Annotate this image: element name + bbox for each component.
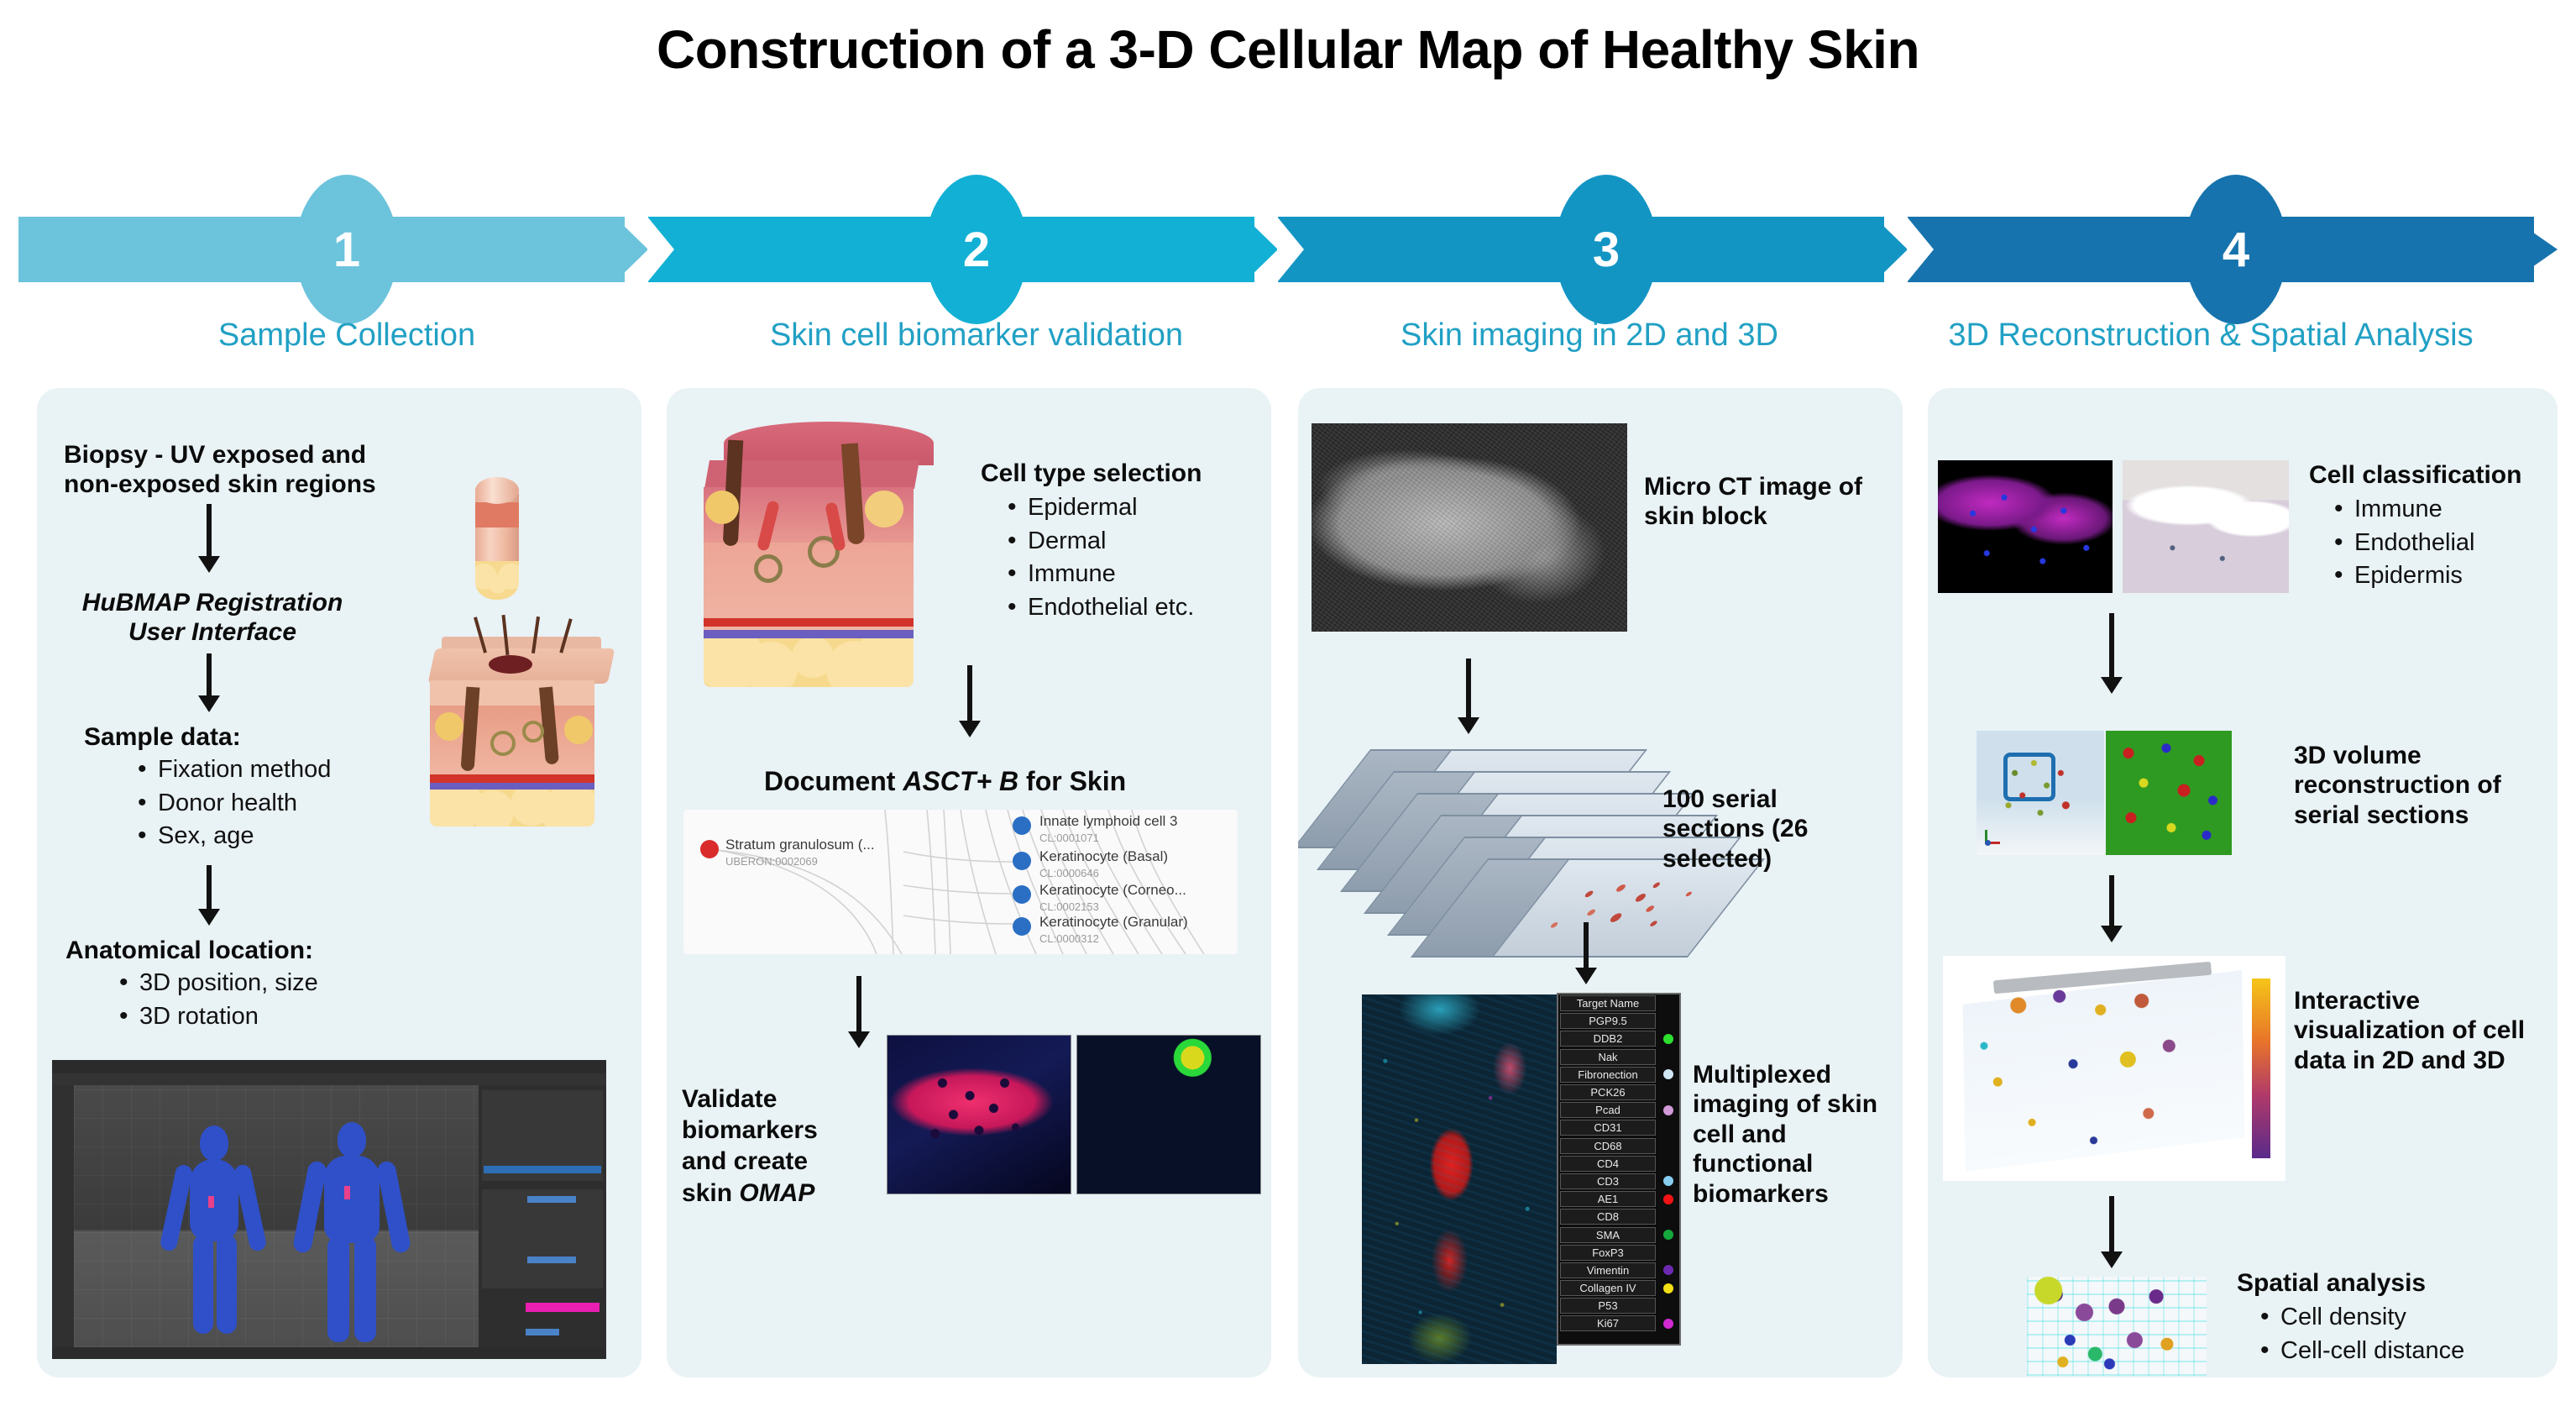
- legend-row[interactable]: SMA: [1558, 1225, 1679, 1243]
- blender-slider-basecolor[interactable]: [527, 1196, 576, 1203]
- legend-target-name: CD8: [1560, 1209, 1656, 1225]
- list-item: Cell density: [2252, 1302, 2464, 1334]
- legend-target-name: AE1: [1560, 1191, 1656, 1207]
- panel3-arrow-1: [1458, 659, 1479, 734]
- legend-color-dot: [1663, 1069, 1673, 1079]
- list-item: Dermal: [999, 526, 1194, 558]
- step-number-3: 3: [1593, 222, 1620, 278]
- legend-color-dot: [1663, 1319, 1673, 1329]
- legend-target-name: Collagen IV: [1560, 1280, 1656, 1296]
- asctb-node-cell-0-label: Innate lymphoid cell 3: [1039, 813, 1177, 830]
- asctb-node-cell-1[interactable]: [1013, 852, 1031, 870]
- legend-header-row: Target Name: [1558, 994, 1679, 1012]
- legend-color-cell: [1657, 1230, 1679, 1240]
- step-arrow-1-tip: [615, 217, 648, 282]
- page-title: Construction of a 3-D Cellular Map of He…: [0, 18, 2576, 81]
- asctb-node-cell-3-id: CL:0000312: [1039, 932, 1099, 945]
- axes-gizmo: [1985, 828, 2012, 847]
- legend-row[interactable]: Collagen IV: [1558, 1279, 1679, 1297]
- panel-biomarker-validation: Cell type selection Epidermal Dermal Imm…: [667, 388, 1271, 1377]
- step-arrow-4-tip: [2511, 217, 2558, 282]
- panel4-arrow-3: [2101, 1196, 2123, 1268]
- legend-target-name: DDB2: [1560, 1031, 1656, 1047]
- list-item: Donor health: [129, 788, 331, 820]
- if-image-keratinocytes[interactable]: [887, 1035, 1071, 1194]
- legend-row[interactable]: PGP9.5: [1558, 1012, 1679, 1030]
- asctb-graph-screenshot[interactable]: Stratum granulosum (... UBERON:0002069 I…: [683, 810, 1238, 954]
- arrow-shaft: [856, 976, 861, 1033]
- legend-target-name: CD68: [1560, 1138, 1656, 1154]
- legend-target-name: PCK26: [1560, 1084, 1656, 1100]
- step-circle-3[interactable]: 3: [1555, 175, 1657, 324]
- legend-color-dot: [1663, 1194, 1673, 1204]
- volume-reconstruction-zoom[interactable]: [2106, 731, 2232, 855]
- biopsy-core-illustration: [475, 477, 519, 600]
- legend-target-name: CD4: [1560, 1156, 1656, 1172]
- asctb-node-cell-3[interactable]: [1013, 917, 1031, 936]
- legend-color-cell: [1657, 1265, 1679, 1275]
- skin-artery-line: [430, 774, 594, 783]
- asctb-node-cell-2[interactable]: [1013, 885, 1031, 904]
- body-model-male: [338, 1122, 366, 1157]
- legend-row[interactable]: PCK26: [1558, 1084, 1679, 1101]
- body-model-male-leg-r: [354, 1236, 376, 1342]
- asctb-node-cell-3-label: Keratinocyte (Granular): [1039, 914, 1188, 931]
- arrow-head: [848, 1031, 870, 1048]
- legend-row[interactable]: Nak: [1558, 1048, 1679, 1066]
- arrow-head: [198, 695, 220, 712]
- panel1-arrow-3: [198, 865, 220, 926]
- legend-target-name: P53: [1560, 1298, 1656, 1314]
- panel3-arrow-2: [1575, 922, 1597, 984]
- if-image-glands[interactable]: [1076, 1035, 1261, 1194]
- arrow-head: [1575, 968, 1597, 984]
- biomarker-legend-table[interactable]: Target Name PGP9.5DDB2NakFibronectionPCK…: [1557, 993, 1681, 1346]
- roi-selection-box[interactable]: [2003, 753, 2055, 801]
- legend-rows-container: PGP9.5DDB2NakFibronectionPCK26PcadCD31CD…: [1558, 1012, 1679, 1332]
- legend-color-cell: [1657, 1283, 1679, 1293]
- skin-hypodermis-fat: [430, 790, 594, 826]
- legend-row[interactable]: CD3: [1558, 1173, 1679, 1190]
- legend-color-cell: [1657, 1194, 1679, 1204]
- legend-color-cell: [1657, 1105, 1679, 1115]
- body-model-female-arm-l: [159, 1163, 193, 1252]
- legend-target-name: Vimentin: [1560, 1262, 1656, 1278]
- list-item: Epidermal: [999, 492, 1194, 524]
- step-number-2: 2: [963, 222, 990, 278]
- legend-row[interactable]: AE1: [1558, 1190, 1679, 1208]
- legend-target-name: FoxP3: [1560, 1245, 1656, 1261]
- blender-slider-alpha[interactable]: [527, 1257, 576, 1263]
- step-circle-2[interactable]: 2: [925, 175, 1028, 324]
- asctb-node-cell-2-label: Keratinocyte (Corneo...: [1039, 882, 1186, 899]
- legend-target-name: SMA: [1560, 1227, 1656, 1243]
- asctb-node-cell-1-label: Keratinocyte (Basal): [1039, 848, 1168, 865]
- step-number-1: 1: [333, 222, 360, 278]
- validate-line-4-pre: skin: [682, 1179, 739, 1207]
- list-item: Endothelial etc.: [999, 592, 1194, 624]
- multiplexed-if-image[interactable]: [1362, 994, 1557, 1364]
- blender-viewport[interactable]: [74, 1085, 479, 1347]
- legend-row[interactable]: CD31: [1558, 1119, 1679, 1136]
- panel2-celltype-heading: Cell type selection: [981, 459, 1202, 488]
- skin-surface-bumpy: [724, 422, 934, 465]
- legend-target-name: Fibronection: [1560, 1067, 1656, 1083]
- legend-target-name: Ki67: [1560, 1315, 1656, 1331]
- serial-sections-stack: [1298, 749, 1721, 917]
- panel3-microct-label: Micro CT image of skin block: [1644, 472, 1871, 532]
- validate-line-1: Validate: [682, 1085, 777, 1113]
- biopsy-core-fat: [475, 561, 519, 600]
- legend-color-dot: [1663, 1283, 1673, 1293]
- he-stain-image[interactable]: [2123, 460, 2289, 593]
- legend-row[interactable]: FoxP3: [1558, 1244, 1679, 1262]
- legend-color-cell: [1657, 1034, 1679, 1044]
- legend-row[interactable]: Fibronection: [1558, 1066, 1679, 1084]
- body-model-female: [200, 1126, 228, 1161]
- asctb-node-anatomical-label: Stratum granulosum (...: [725, 837, 875, 853]
- panel1-anatomical-heading: Anatomical location:: [65, 936, 313, 965]
- blender-viewport-color-swatch[interactable]: [526, 1303, 599, 1312]
- panel1-arrow-2: [198, 653, 220, 712]
- panel4-classification-list: Immune Endothelial Epidermis: [2326, 492, 2475, 592]
- arrow-head: [959, 721, 981, 737]
- panel4-arrow-1: [2101, 613, 2123, 694]
- skin-vein-2: [704, 630, 914, 638]
- step-number-4: 4: [2223, 222, 2249, 278]
- panel1-heading: Biopsy - UV exposed and non-exposed skin…: [64, 440, 425, 500]
- microct-image[interactable]: [1312, 423, 1627, 632]
- arrow-shaft: [2109, 875, 2114, 927]
- sebaceous-gland-left: [435, 712, 463, 741]
- blender-tool-bar: [52, 1073, 606, 1085]
- arrow-head: [1458, 717, 1479, 734]
- arrow-shaft: [207, 865, 212, 910]
- body-model-female-torso: [190, 1159, 238, 1241]
- viewer-colorbar: [2252, 979, 2270, 1158]
- panel2-validate-label: Validate biomarkers and create skin OMAP: [682, 1084, 858, 1209]
- blender-menu-bar: [52, 1060, 606, 1073]
- biopsy-core-top: [475, 477, 519, 504]
- asctb-node-anatomical[interactable]: [700, 840, 719, 858]
- volume-reconstruction-overview[interactable]: [1977, 731, 2104, 855]
- panel2-arrow-1: [959, 665, 981, 737]
- legend-row[interactable]: CD8: [1558, 1208, 1679, 1225]
- list-item: Cell-cell distance: [2252, 1335, 2464, 1367]
- step-circle-4[interactable]: 4: [2185, 175, 2287, 324]
- blender-tool-palette: [52, 1085, 74, 1347]
- interactive-3d-viewer[interactable]: [1943, 956, 2285, 1181]
- asctb-node-anatomical-id: UBERON:0002069: [725, 855, 818, 868]
- legend-color-dot: [1663, 1176, 1673, 1186]
- body-model-male-arm-l: [292, 1160, 328, 1254]
- arrow-shaft: [1466, 659, 1471, 719]
- arrow-head: [198, 909, 220, 926]
- body-model-female-leg-r: [217, 1235, 237, 1334]
- body-model-male-leg-l: [327, 1236, 349, 1342]
- list-item: Immune: [999, 559, 1194, 590]
- document-label-pre: Document: [764, 766, 903, 796]
- skin-artery-2: [704, 618, 914, 627]
- legend-row[interactable]: P53: [1558, 1297, 1679, 1314]
- step-arrow-3-tip: [1874, 217, 1908, 282]
- legend-target-name: Nak: [1560, 1049, 1656, 1065]
- asctb-node-cell-1-id: CL:0000646: [1039, 867, 1099, 879]
- panel1-anatomical-list: 3D position, size 3D rotation: [111, 966, 318, 1032]
- list-item: Fixation method: [129, 754, 331, 786]
- if-image-epidermis[interactable]: [1938, 460, 2113, 593]
- list-item: Sex, age: [129, 821, 331, 853]
- legend-color-cell: [1657, 1319, 1679, 1329]
- sebaceous-gland-2a: [705, 491, 739, 524]
- validate-line-2: biomarkers: [682, 1116, 818, 1144]
- panel4-spatial-heading: Spatial analysis: [2237, 1268, 2426, 1298]
- legend-target-name: CD31: [1560, 1120, 1656, 1136]
- biopsy-hole: [489, 655, 532, 674]
- legend-target-name: CD3: [1560, 1173, 1656, 1189]
- blender-properties-panel[interactable]: [479, 1085, 606, 1347]
- panel3-multiplexed-label: Multiplexed imaging of skin cell and fun…: [1693, 1060, 1882, 1209]
- biopsy-core-epidermis: [475, 502, 519, 527]
- step-label-2: Skin cell biomarker validation: [741, 317, 1212, 354]
- asctb-node-cell-0[interactable]: [1013, 816, 1031, 835]
- panel-3d-reconstruction: Cell classification Immune Endothelial E…: [1928, 388, 2558, 1377]
- blender-status-bar: [52, 1347, 606, 1359]
- panel3-serial-sections-label: 100 serial sections (26 selected): [1662, 784, 1872, 874]
- document-label-asctb: ASCT+ B: [903, 766, 1018, 796]
- panel2-document-label: Document ASCT+ B for Skin: [764, 766, 1126, 798]
- panel4-spatial-list: Cell density Cell-cell distance: [2252, 1300, 2464, 1367]
- legend-color-dot: [1663, 1230, 1673, 1240]
- step-label-3: Skin imaging in 2D and 3D: [1396, 317, 1783, 354]
- legend-color-cell: [1657, 1176, 1679, 1186]
- sweat-gland-2: [522, 721, 544, 742]
- body-model-female-leg-l: [193, 1235, 213, 1334]
- validate-line-4-omap: OMAP: [739, 1179, 814, 1207]
- blender-outliner-selected-row: [484, 1166, 601, 1173]
- arrow-head: [2101, 926, 2123, 942]
- blender-material-properties: [482, 1189, 603, 1288]
- legend-color-dot: [1663, 1034, 1673, 1044]
- legend-target-name: Pcad: [1560, 1102, 1656, 1118]
- legend-row[interactable]: Pcad: [1558, 1101, 1679, 1119]
- list-item: Endothelial: [2326, 527, 2475, 559]
- sebaceous-gland-right: [564, 716, 593, 744]
- document-label-post: for Skin: [1018, 766, 1126, 796]
- arrow-head: [2101, 677, 2123, 694]
- legend-header-cell: Target Name: [1560, 995, 1656, 1011]
- arrow-shaft: [1584, 922, 1589, 969]
- body-model-male-arm-r: [376, 1160, 412, 1254]
- legend-row[interactable]: DDB2: [1558, 1030, 1679, 1047]
- legend-row[interactable]: Ki67: [1558, 1314, 1679, 1332]
- panel4-classification-heading: Cell classification: [2309, 460, 2521, 490]
- legend-color-cell: [1657, 1069, 1679, 1079]
- panel1-sample-data-heading: Sample data:: [84, 722, 241, 752]
- skin-block-illustration-2: [689, 410, 966, 695]
- spatial-analysis-image[interactable]: [2027, 1277, 2207, 1376]
- step-arrow-2-tip: [1244, 217, 1278, 282]
- skin-block-illustration: [416, 615, 626, 833]
- arrow-shaft: [2109, 1196, 2114, 1253]
- arrow-shaft: [207, 653, 212, 697]
- validate-line-3: and create: [682, 1147, 808, 1175]
- panel1-sample-data-list: Fixation method Donor health Sex, age: [129, 753, 331, 853]
- arrow-shaft: [2109, 613, 2114, 679]
- arrow-head: [198, 556, 220, 573]
- panel-sample-collection: Biopsy - UV exposed and non-exposed skin…: [37, 388, 641, 1377]
- body-model-male-torso: [324, 1156, 380, 1243]
- sweat-gland-2a: [754, 554, 783, 583]
- tissue-block-marker-2: [344, 1186, 350, 1199]
- blender-slider-roughness[interactable]: [526, 1329, 559, 1335]
- arrow-shaft: [207, 504, 212, 558]
- list-item: 3D position, size: [111, 968, 318, 1000]
- arrow-shaft: [967, 665, 972, 722]
- sebaceous-gland-2b: [865, 491, 903, 527]
- step-label-4: 3D Reconstruction & Spatial Analysis: [1917, 317, 2505, 354]
- list-item: Epidermis: [2326, 560, 2475, 592]
- blender-registration-screenshot[interactable]: [52, 1060, 606, 1359]
- legend-target-name: PGP9.5: [1560, 1013, 1656, 1029]
- panel2-celltype-list: Epidermal Dermal Immune Endothelial etc.: [999, 491, 1194, 624]
- step-circle-1[interactable]: 1: [296, 175, 398, 324]
- legend-color-dot: [1663, 1105, 1673, 1115]
- arrow-head: [2101, 1251, 2123, 1268]
- legend-color-dot: [1663, 1265, 1673, 1275]
- panel2-arrow-2: [848, 976, 870, 1048]
- panel4-volume-label: 3D volume reconstruction of serial secti…: [2294, 741, 2514, 830]
- panel1-arrow-1: [198, 504, 220, 573]
- asctb-node-cell-0-id: CL:0001071: [1039, 832, 1099, 844]
- skin-hypodermis-2: [704, 638, 914, 687]
- legend-row[interactable]: CD4: [1558, 1155, 1679, 1173]
- panel4-arrow-2: [2101, 875, 2123, 942]
- panel4-interactive-label: Interactive visualization of cell data i…: [2294, 986, 2529, 1075]
- asctb-node-cell-2-id: CL:0002153: [1039, 900, 1099, 913]
- sweat-gland: [490, 731, 516, 756]
- tissue-block-marker-1: [208, 1196, 214, 1208]
- panel1-registration-ui-label: HuBMAP Registration User Interface: [65, 588, 359, 648]
- legend-row[interactable]: Vimentin: [1558, 1262, 1679, 1279]
- step-label-1: Sample Collection: [196, 317, 498, 354]
- list-item: Immune: [2326, 494, 2475, 526]
- list-item: 3D rotation: [111, 1001, 318, 1033]
- panel-skin-imaging: Micro CT image of skin block: [1298, 388, 1903, 1377]
- legend-row[interactable]: CD68: [1558, 1137, 1679, 1155]
